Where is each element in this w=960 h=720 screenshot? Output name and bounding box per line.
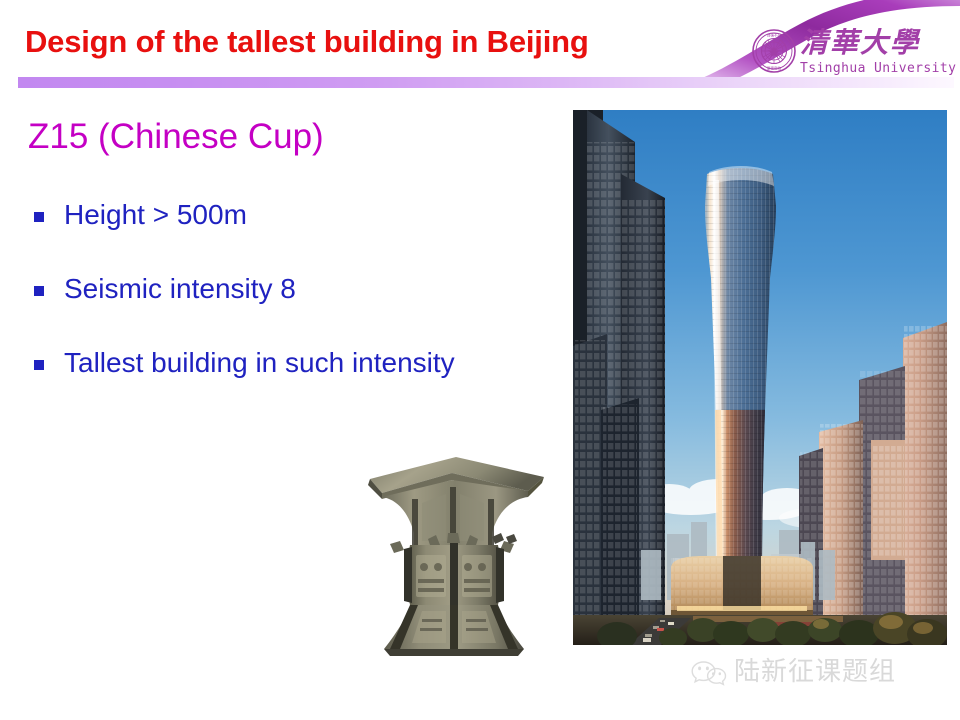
watermark-text: 陆新征课题组 — [734, 655, 896, 689]
logo-chinese-name: 清華大學 — [800, 26, 920, 60]
watermark: 陆新征课题组 — [690, 655, 940, 697]
square-bullet-icon — [34, 212, 44, 222]
logo-english-name: Tsinghua University — [800, 61, 956, 76]
bullet-list: Height > 500m Seismic intensity 8 Talles… — [30, 188, 530, 410]
list-item-label: Height > 500m — [64, 199, 247, 230]
page-title: Design of the tallest building in Beijin… — [25, 24, 589, 60]
list-item-label: Tallest building in such intensity — [64, 347, 455, 378]
wechat-icon — [690, 657, 728, 689]
list-item: Seismic intensity 8 — [30, 262, 530, 316]
svg-text:厚德载物: 厚德载物 — [767, 65, 782, 70]
tsinghua-seal-icon: 自强不息 厚德载物 — [752, 29, 796, 73]
tower-photo — [573, 110, 947, 645]
bronze-vessel-image — [352, 437, 557, 662]
tsinghua-university-logo: 自强不息 厚德载物 清華大學 Tsinghua University — [752, 26, 952, 82]
square-bullet-icon — [34, 286, 44, 296]
list-item-label: Seismic intensity 8 — [64, 273, 296, 304]
list-item: Tallest building in such intensity — [30, 336, 530, 390]
square-bullet-icon — [34, 360, 44, 370]
svg-text:自强不息: 自强不息 — [767, 32, 782, 37]
content-heading: Z15 (Chinese Cup) — [28, 117, 324, 157]
list-item: Height > 500m — [30, 188, 530, 242]
